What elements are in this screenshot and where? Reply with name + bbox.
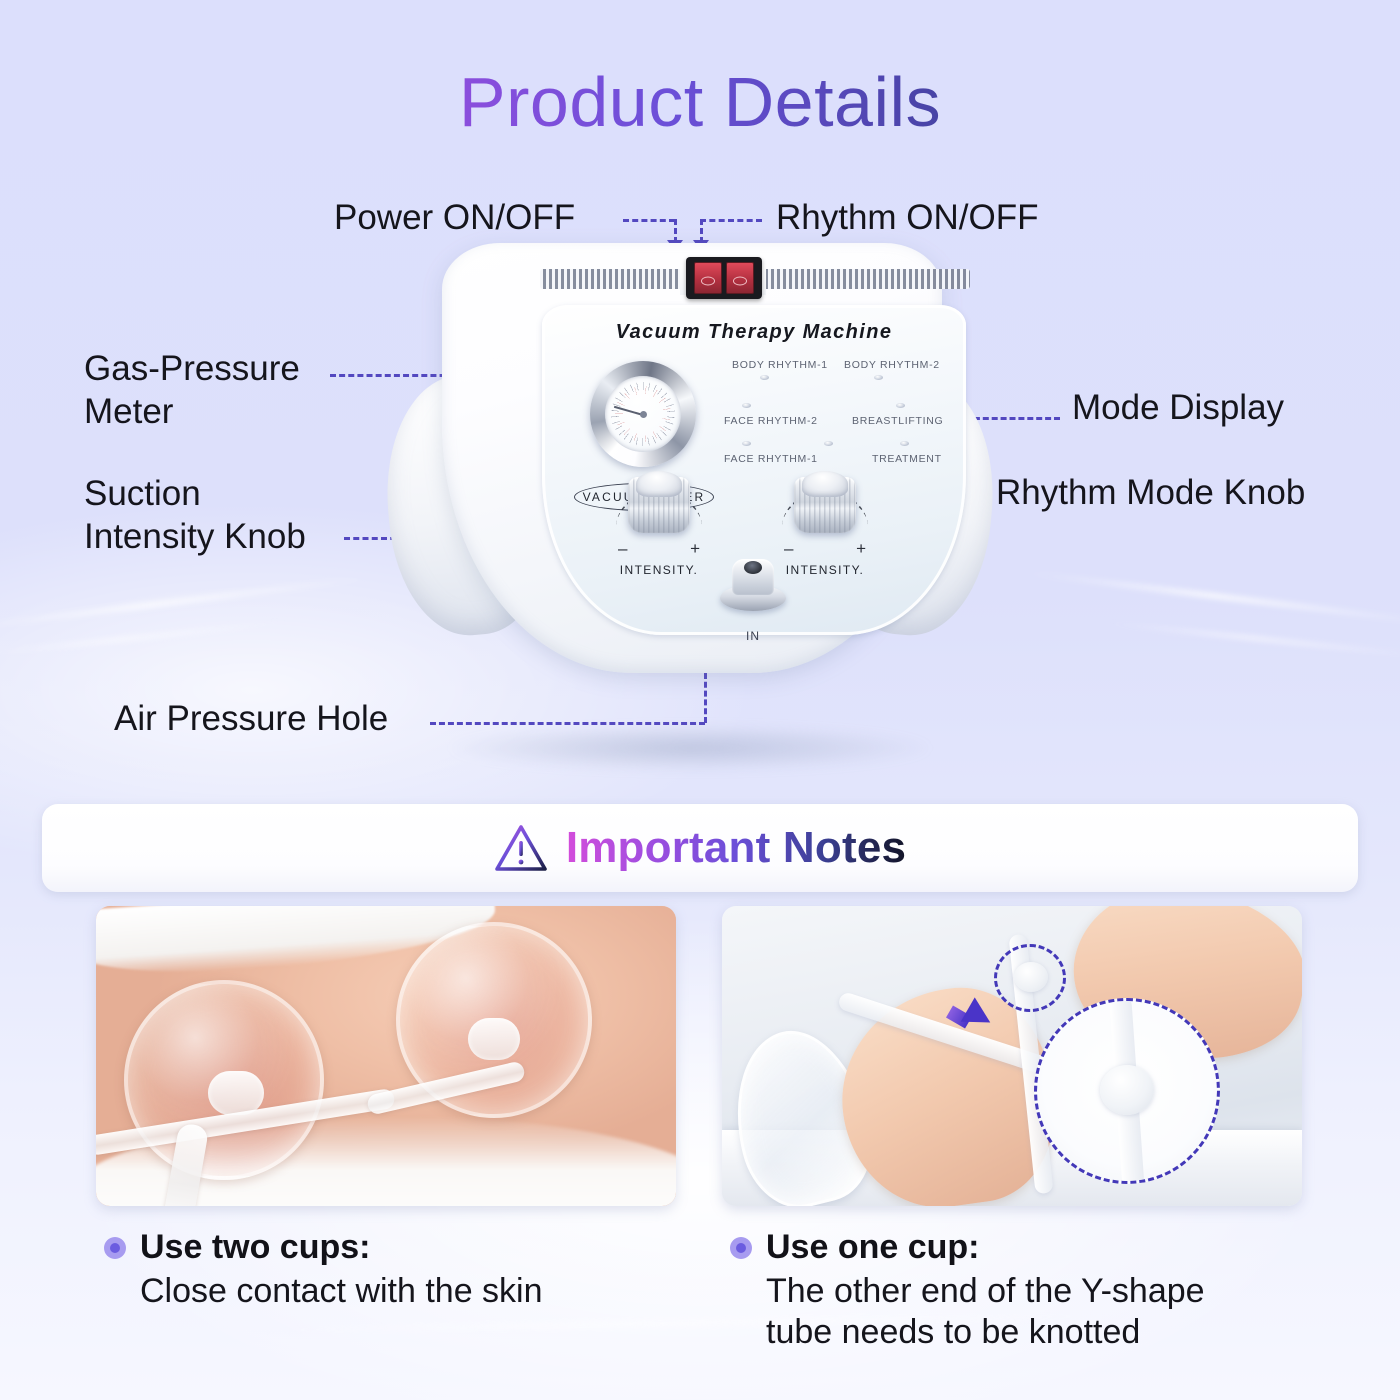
gauge-hub xyxy=(640,411,647,418)
caption-two-cups: Use two cups: Close contact with the ski… xyxy=(104,1228,543,1312)
brand-text: Vacuum Therapy Machine xyxy=(542,321,966,344)
important-notes-banner: Important Notes xyxy=(42,804,1358,892)
magnified-knot xyxy=(1100,1065,1154,1115)
mode-label-body-rhythm-1: BODY RHYTHM-1 xyxy=(732,359,828,371)
rhythm-rocker-switch[interactable] xyxy=(726,262,754,294)
device-shadow xyxy=(450,725,930,771)
light-streak xyxy=(0,574,379,630)
caption-body: Close contact with the skin xyxy=(140,1271,543,1312)
mode-label-treatment: TREATMENT xyxy=(872,453,942,465)
knob-plus-label: + xyxy=(856,539,866,559)
caption-one-cup: Use one cup: The other end of the Y-shap… xyxy=(730,1228,1205,1354)
warning-triangle-icon xyxy=(494,823,548,873)
gauge-face xyxy=(605,376,681,452)
knot-magnifier-callout xyxy=(1034,998,1220,1184)
leader-line-power xyxy=(623,219,675,222)
cup-neck-left xyxy=(208,1071,264,1115)
callout-gas-pressure-meter: Gas-Pressure Meter xyxy=(84,348,300,433)
gas-pressure-meter-gauge xyxy=(590,361,696,467)
mode-label-face-rhythm-1: FACE RHYTHM-1 xyxy=(724,453,818,465)
important-notes-title: Important Notes xyxy=(566,823,906,873)
knob-caption: INTENSITY. xyxy=(616,563,702,577)
mode-led-body-rhythm-2 xyxy=(874,375,883,380)
air-hole-in-label: IN xyxy=(720,629,786,643)
knot-highlight-circle xyxy=(994,944,1066,1012)
vacuum-therapy-machine-illustration: Vacuum Therapy Machine VACUUM METER BODY… xyxy=(380,225,1000,785)
light-streak xyxy=(0,619,299,657)
mode-led-treatment xyxy=(900,441,909,446)
caption-heading: Use one cup: xyxy=(730,1228,1205,1267)
one-cup-knot-photo xyxy=(722,906,1302,1206)
light-streak xyxy=(1101,620,1400,660)
bullet-icon xyxy=(104,1237,126,1259)
knob-plus-label: + xyxy=(690,539,700,559)
leader-line-rhythm-switch xyxy=(700,219,762,222)
knob-minus-label: – xyxy=(618,539,627,559)
mode-led-body-rhythm-1 xyxy=(760,375,769,380)
device-shell: Vacuum Therapy Machine VACUUM METER BODY… xyxy=(442,243,942,673)
bullet-icon xyxy=(730,1237,752,1259)
rhythm-mode-knob[interactable]: – + INTENSITY. xyxy=(782,477,868,533)
knob-range-markers: – + xyxy=(782,539,868,559)
mode-label-body-rhythm-2: BODY RHYTHM-2 xyxy=(844,359,940,371)
suction-intensity-knob[interactable]: – + INTENSITY. xyxy=(616,477,702,533)
mode-label-breastlifting: BREASTLIFTING xyxy=(852,415,943,427)
page-title: Product Details xyxy=(0,62,1400,142)
mode-led-center xyxy=(824,441,833,446)
two-cups-photo xyxy=(96,906,676,1206)
light-streak xyxy=(1021,570,1400,627)
knob-body[interactable] xyxy=(628,477,690,533)
cup-neck-right xyxy=(468,1018,520,1060)
caption-heading: Use two cups: xyxy=(104,1228,543,1267)
knob-caption: INTENSITY. xyxy=(782,563,868,577)
callout-rhythm-mode-knob: Rhythm Mode Knob xyxy=(996,472,1305,515)
mode-label-face-rhythm-2: FACE RHYTHM-2 xyxy=(724,415,818,427)
knob-minus-label: – xyxy=(784,539,793,559)
mode-led-breastlifting xyxy=(896,403,905,408)
caption-body: The other end of the Y-shape tube needs … xyxy=(766,1271,1205,1354)
knob-body[interactable] xyxy=(794,477,856,533)
callout-suction-intensity-knob: Suction Intensity Knob xyxy=(84,473,306,558)
knob-range-markers: – + xyxy=(616,539,702,559)
caption-title: Use two cups: xyxy=(140,1228,370,1267)
power-rocker-switch[interactable] xyxy=(694,262,722,294)
power-switch-housing[interactable] xyxy=(686,257,762,299)
control-panel: Vacuum Therapy Machine VACUUM METER BODY… xyxy=(542,305,966,635)
mode-led-face-rhythm-1 xyxy=(742,441,751,446)
mode-led-face-rhythm-2 xyxy=(742,403,751,408)
mode-display: BODY RHYTHM-1 BODY RHYTHM-2 FACE RHYTHM-… xyxy=(724,359,938,471)
caption-title: Use one cup: xyxy=(766,1228,979,1267)
air-hole-port xyxy=(744,561,762,574)
callout-mode-display: Mode Display xyxy=(1072,387,1284,430)
callout-air-pressure-hole: Air Pressure Hole xyxy=(114,698,388,741)
